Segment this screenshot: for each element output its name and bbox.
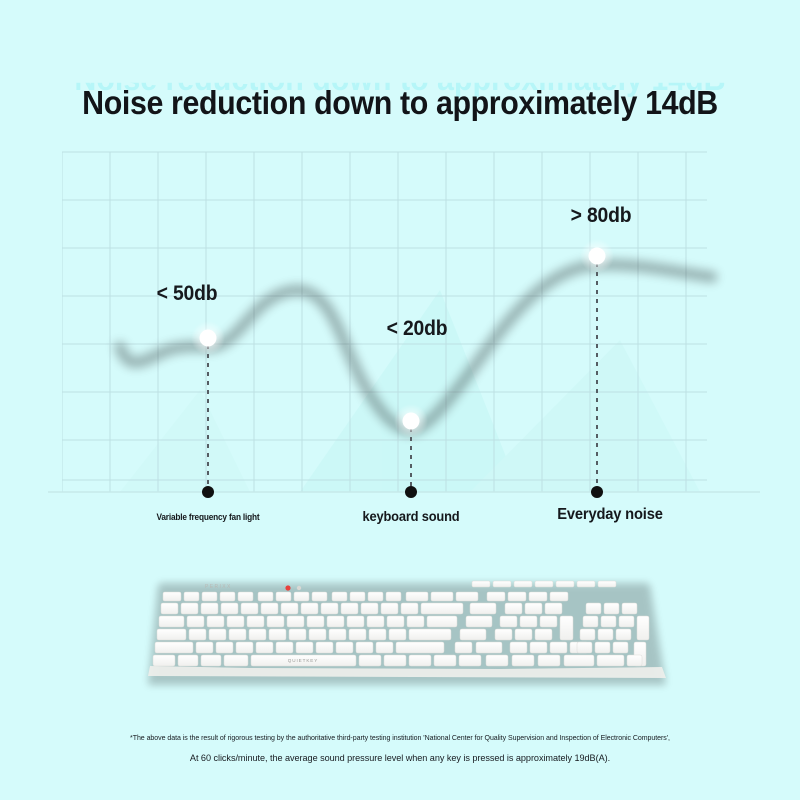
title-block: Noise reduction down to approximately 14… (0, 84, 800, 122)
key-row-shift (155, 642, 588, 653)
brand-logo: PERIXX (205, 584, 232, 590)
value-label-1: < 50db (157, 282, 218, 306)
axis-label-everyday-noise: Everyday noise (557, 506, 662, 524)
power-indicator-led (285, 585, 290, 590)
axis-dot-2 (405, 486, 417, 498)
value-label-2: < 20db (387, 317, 448, 341)
keyboard-svg: PERIXX (0, 560, 800, 710)
value-label-3: > 80db (571, 204, 632, 228)
data-point-marker-2[interactable] (403, 413, 420, 430)
data-point-marker-3[interactable] (589, 248, 606, 265)
axis-label-keyboard-sound: keyboard sound (363, 508, 460, 524)
spacebar-label: QUIETKEY (288, 658, 318, 663)
page-title: Noise reduction down to approximately 14… (32, 84, 768, 122)
footnotes: *The above data is the result of rigorou… (0, 733, 800, 764)
axis-label-variable-frequency-fan-light: Variable frequency fan light (157, 512, 260, 522)
data-point-marker-1[interactable] (200, 330, 217, 347)
caps-indicator-led (297, 586, 301, 590)
axis-dot-1 (202, 486, 214, 498)
axis-dot-3 (591, 486, 603, 498)
footnote-line-1: *The above data is the result of rigorou… (20, 733, 780, 742)
footnote-line-2: At 60 clicks/minute, the average sound p… (20, 753, 780, 764)
noise-comparison-chart: < 50db < 20db > 80db Variable frequency … (0, 140, 800, 560)
key-row-bottom (153, 655, 594, 666)
chart-svg (0, 140, 800, 560)
keyboard-product-image: PERIXX (0, 560, 800, 710)
